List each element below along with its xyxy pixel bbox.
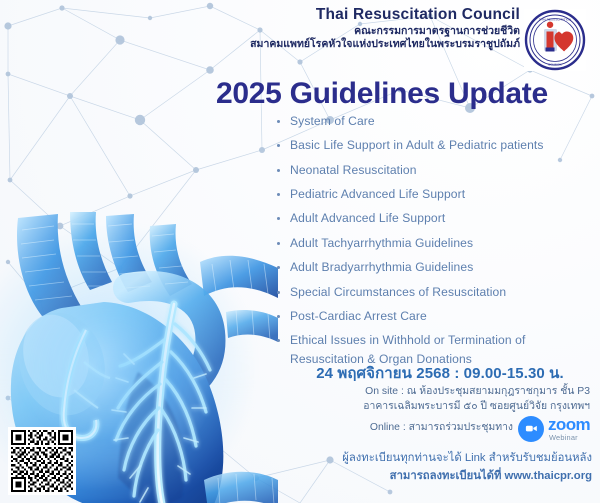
list-item: Adult Advanced Life Support [276, 210, 596, 227]
organization-name-th-line1: คณะกรรมการมาตรฐานการช่วยชีวิต [240, 25, 520, 39]
onsite-line-2: อาคารเฉลิมพระบารมี ๕๐ ปี ซอยศูนย์วิจัย ก… [300, 400, 590, 415]
list-item: Post-Cardiac Arrest Care [276, 308, 596, 325]
organization-name-th-line2: สมาคมแพทย์โรคหัวใจแห่งประเทศไทยในพระบรมร… [240, 38, 520, 52]
svg-text:THAI RESUSCITATION: THAI RESUSCITATION [539, 18, 572, 22]
onsite-line-1: On site : ณ ห้องประชุมสยามมกุฎราชกุมาร ช… [300, 385, 590, 400]
registration-qr-code[interactable] [8, 427, 76, 495]
organization-name-en: Thai Resuscitation Council [240, 6, 520, 24]
zoom-subtitle: Webinar [549, 434, 578, 441]
list-item: Special Circumstances of Resuscitation [276, 284, 596, 301]
footer-line-2[interactable]: สามารถลงทะเบียนได้ที่ www.thaicpr.org [280, 468, 592, 486]
event-date-time: 24 พฤศจิกายน 2568 : 09.00-15.30 น. [290, 361, 590, 385]
list-item: Ethical Issues in Withhold or Terminatio… [276, 332, 596, 349]
zoom-wordmark-block: zoom Webinar [548, 416, 590, 441]
poster-canvas: Thai Resuscitation Council คณะกรรมการมาต… [0, 0, 600, 503]
qr-code-svg [11, 430, 73, 492]
trc-seal-logo: THAI RESUSCITATION COUNCIL [524, 9, 586, 71]
page-title: 2025 Guidelines Update [216, 78, 588, 110]
online-row: Online : สามารถร่วมประชุมทาง zoom Webina… [300, 416, 590, 442]
list-item: System of Care [276, 113, 596, 130]
footer-line-1: ผู้ลงทะเบียนทุกท่านจะได้ Link สำหรับรับช… [280, 450, 592, 468]
list-item: Adult Bradyarrhythmia Guidelines [276, 259, 596, 276]
zoom-webinar-logo[interactable]: zoom Webinar [518, 416, 590, 442]
footer-block: ผู้ลงทะเบียนทุกท่านจะได้ Link สำหรับรับช… [280, 450, 592, 485]
video-camera-icon [518, 416, 544, 442]
list-item: Adult Tachyarrhythmia Guidelines [276, 235, 596, 252]
venue-block: On site : ณ ห้องประชุมสยามมกุฎราชกุมาร ช… [300, 385, 590, 442]
topics-list: System of Care Basic Life Support in Adu… [276, 113, 596, 376]
list-item: Pediatric Advanced Life Support [276, 186, 596, 203]
list-item: Neonatal Resuscitation [276, 162, 596, 179]
svg-text:COUNCIL: COUNCIL [548, 63, 562, 67]
list-item: Basic Life Support in Adult & Pediatric … [276, 137, 596, 154]
header-block: Thai Resuscitation Council คณะกรรมการมาต… [240, 6, 590, 52]
online-label: Online : สามารถร่วมประชุมทาง [370, 421, 513, 436]
zoom-wordmark: zoom [548, 416, 590, 433]
video-camera-glyph [524, 421, 539, 436]
